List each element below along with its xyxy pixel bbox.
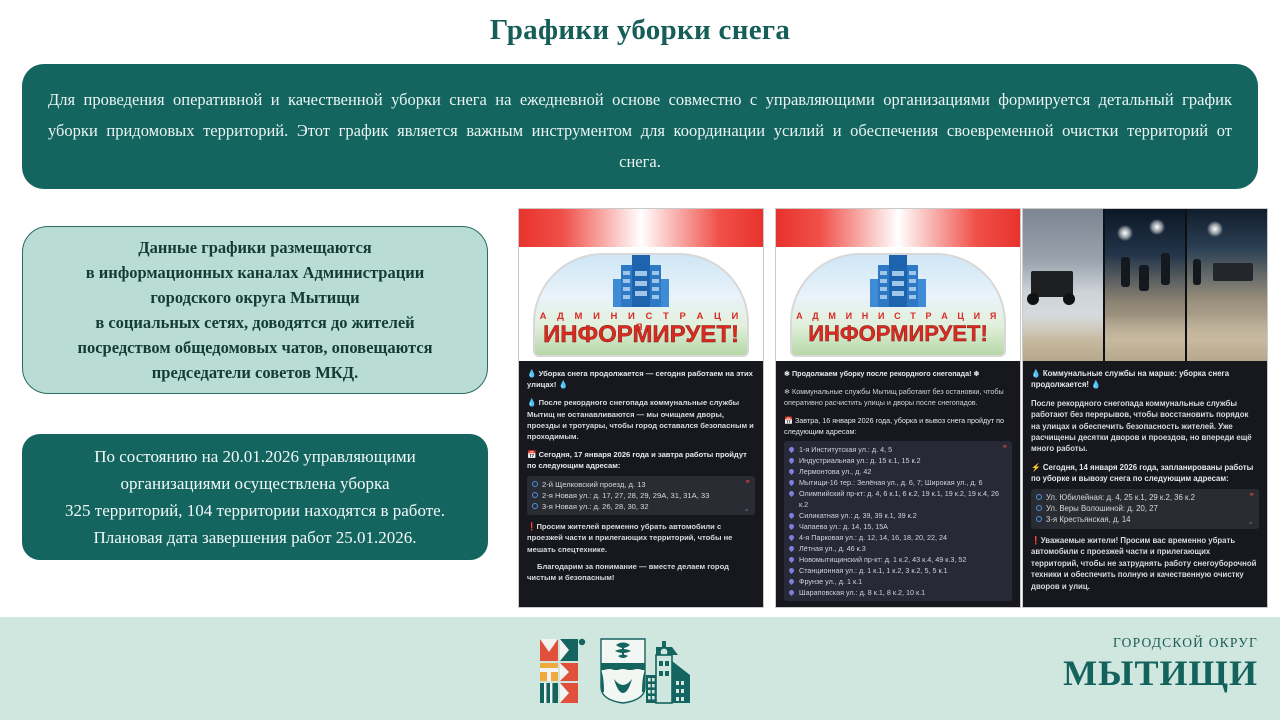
poster-arch: А Д М И Н И С Т Р А Ц И Я ИНФОРМИРУЕТ!: [533, 253, 749, 357]
post-warning-3: ❗Уважаемые жители! Просим вас временно у…: [1031, 535, 1259, 592]
pin-icon: [789, 446, 795, 453]
mytishchi-logo: [538, 635, 724, 705]
info-light-line-1: Данные графики размещаются: [77, 235, 432, 260]
address-list-1[interactable]: ❞ 2-й Щелковский проезд, д. 13 2-я Новая…: [527, 476, 755, 516]
address-list-3[interactable]: ❞ Ул. Юбилейная: д. 4, 25 к.1, 29 к.2, 3…: [1031, 489, 1259, 529]
footer-bar: ГОРОДСКОЙ ОКРУГ МЫТИЩИ: [0, 617, 1280, 720]
pin-icon: [532, 492, 538, 498]
address-item: Станционная ул.: д. 1 к.1, 1 к.2, 3 к.2,…: [789, 565, 1007, 576]
post-body-2: ❄ Продолжаем уборку после рекордного сне…: [776, 361, 1020, 608]
info-dark-line-1: По состоянию на 20.01.2026 управляющими: [65, 443, 445, 470]
info-box-distribution: Данные графики размещаются в информацион…: [22, 226, 488, 394]
city-hall-icon: [599, 253, 683, 311]
info-dark-line-3: 325 территорий, 104 территории находятся…: [65, 497, 445, 524]
info-light-line-6: председатели советов МКД.: [77, 360, 432, 385]
chevron-down-icon[interactable]: ⌄: [743, 503, 750, 514]
pin-icon: [789, 490, 795, 497]
address-item: Шараповская ул.: д. 8 к.1, 8 к.2, 10 к.1: [789, 587, 1007, 598]
post-date-1: 📅 Сегодня, 17 января 2026 года и завтра …: [527, 449, 755, 471]
pin-icon: [532, 481, 538, 487]
address-item: Олимпийский пр-кт: д. 4, 6 к.1, 6 к.2, 1…: [789, 488, 1007, 510]
post-date-2: 📅 Завтра, 16 января 2026 года, уборка и …: [784, 415, 1012, 437]
address-item: 3-я Крестьянская, д. 14: [1036, 514, 1254, 525]
administration-poster-1: А Д М И Н И С Т Р А Ц И Я ИНФОРМИРУЕТ!: [519, 209, 763, 361]
post-lead-2: ❄ Продолжаем уборку после рекордного сне…: [784, 368, 1012, 379]
pin-icon: [789, 523, 795, 530]
flag-stripe: [776, 209, 1020, 247]
pin-icon: [789, 545, 795, 552]
chevron-down-icon[interactable]: ⌄: [1247, 516, 1254, 527]
intro-banner: Для проведения оперативной и качественно…: [22, 64, 1258, 189]
address-item: Чапаева ул.: д. 14, 15, 15А: [789, 521, 1007, 532]
address-item: Лермонтова ул., д. 42: [789, 466, 1007, 477]
pin-icon: [789, 556, 795, 563]
address-item: Мытищи-16 тер.: Зелёная ул., д. 6, 7; Ши…: [789, 477, 1007, 488]
post-lead-3: 💧 Коммунальные службы на марше: уборка с…: [1031, 368, 1259, 391]
coat-of-arms-icon: [601, 639, 645, 703]
info-light-line-2: в информационных каналах Администрации: [77, 260, 432, 285]
info-light-line-5: посредством общедомовых чатов, оповещают…: [77, 335, 432, 360]
brand-subtitle: ГОРОДСКОЙ ОКРУГ: [1063, 635, 1258, 651]
post-para-1: 💧 После рекордного снегопада коммунальны…: [527, 397, 755, 442]
post-thanks-1: Благодарим за понимание — вместе делаем …: [527, 561, 755, 583]
post-para-3: После рекордного снегопада коммунальные …: [1031, 398, 1259, 455]
city-tower-icon: [646, 641, 690, 703]
pin-icon: [789, 534, 795, 541]
poster-line-2: ИНФОРМИРУЕТ!: [535, 321, 747, 349]
pin-icon: [789, 457, 795, 464]
address-list-2[interactable]: ❞ 1-я Институтская ул.: д. 4, 5 Индустри…: [784, 441, 1012, 601]
address-item: Ул. Веры Волошиной: д. 20, 27: [1036, 503, 1254, 514]
address-item: 2-й Щелковский проезд, д. 13: [532, 479, 750, 490]
address-item: Лётная ул., д. 46 к.3: [789, 543, 1007, 554]
post-lead-1: 💧 Уборка снега продолжается — сегодня ра…: [527, 368, 755, 390]
flag-stripe: [519, 209, 763, 247]
post-card-1[interactable]: А Д М И Н И С Т Р А Ц И Я ИНФОРМИРУЕТ! 💧…: [518, 208, 764, 608]
administration-poster-2: А Д М И Н И С Т Р А Ц И Я ИНФОРМИРУЕТ!: [776, 209, 1020, 361]
photo-snow-pile: [1187, 209, 1267, 361]
info-light-line-3: городского округа Мытищи: [77, 285, 432, 310]
address-item: 2-я Новая ул.: д. 17, 27, 28, 29, 29А, 3…: [532, 490, 750, 501]
poster-line-1: А Д М И Н И С Т Р А Ц И Я: [792, 311, 1004, 321]
post-body-1: 💧 Уборка снега продолжается — сегодня ра…: [519, 361, 763, 587]
pin-icon: [532, 503, 538, 509]
info-box-status: По состоянию на 20.01.2026 управляющими …: [22, 434, 488, 560]
info-dark-line-2: организациями осуществлена уборка: [65, 470, 445, 497]
snow-clearing-photo-strip: [1023, 209, 1267, 361]
address-item: Фрунзе ул., д. 1 к.1: [789, 576, 1007, 587]
address-item: 1-я Институтская ул.: д. 4, 5: [789, 444, 1007, 455]
pin-icon: [789, 479, 795, 486]
post-body-3: 💧 Коммунальные службы на марше: уборка с…: [1023, 361, 1267, 602]
intro-text: Для проведения оперативной и качественно…: [48, 84, 1232, 177]
post-card-2[interactable]: А Д М И Н И С Т Р А Ц И Я ИНФОРМИРУЕТ! ❄…: [775, 208, 1021, 608]
pin-icon: [1036, 516, 1042, 522]
address-item: Индустриальная ул.: д. 15 к.1, 15 к.2: [789, 455, 1007, 466]
brand-title: МЫТИЩИ: [1063, 653, 1258, 693]
pin-icon: [1036, 505, 1042, 511]
pin-icon: [789, 578, 795, 585]
address-item: 3-я Новая ул.: д. 26, 28, 30, 32: [532, 501, 750, 512]
info-dark-line-4: Плановая дата завершения работ 25.01.202…: [65, 524, 445, 551]
pin-icon: [789, 468, 795, 475]
city-hall-icon: [856, 253, 940, 311]
pin-icon: [789, 589, 795, 596]
post-para-2: ❄ Коммунальные службы Мытищ работают без…: [784, 386, 1012, 408]
post-card-3[interactable]: 💧 Коммунальные службы на марше: уборка с…: [1022, 208, 1268, 608]
poster-arch: А Д М И Н И С Т Р А Ц И Я ИНФОРМИРУЕТ!: [790, 253, 1006, 357]
photo-tractor: [1023, 209, 1103, 361]
screenshot-gallery: А Д М И Н И С Т Р А Ц И Я ИНФОРМИРУЕТ! 💧…: [518, 208, 1268, 608]
poster-line-2: ИНФОРМИРУЕТ!: [792, 321, 1004, 347]
pin-icon: [789, 567, 795, 574]
address-item: Ул. Юбилейная: д. 4, 25 к.1, 29 к.2, 36 …: [1036, 492, 1254, 503]
address-item: 4-я Парковая ул.: д. 12, 14, 16, 18, 20,…: [789, 532, 1007, 543]
info-light-line-4: в социальных сетях, доводятся до жителей: [77, 310, 432, 335]
post-warning-1: ❗Просим жителей временно убрать автомоби…: [527, 521, 755, 555]
address-item: Новомытищинский пр-кт: д. 1 к.2, 43 к.4,…: [789, 554, 1007, 565]
pin-icon: [1036, 494, 1042, 500]
page-title: Графики уборки снега: [0, 14, 1280, 47]
pin-icon: [789, 512, 795, 519]
post-date-3: ⚡ Сегодня, 14 января 2026 года, запланир…: [1031, 462, 1259, 485]
brand-block: ГОРОДСКОЙ ОКРУГ МЫТИЩИ: [1063, 635, 1258, 693]
address-item: Силикатная ул.: д. 39, 39 к.1, 39 к.2: [789, 510, 1007, 521]
photo-workers: [1105, 209, 1185, 361]
mti-glyph-icon: [540, 639, 585, 703]
